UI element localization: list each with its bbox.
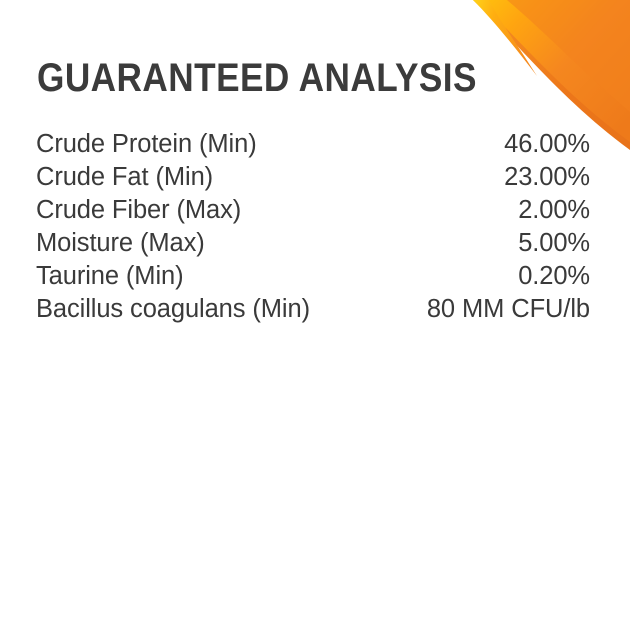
table-row: Bacillus coagulans (Min) 80 MM CFU/lb bbox=[36, 293, 590, 326]
nutrient-value: 80 MM CFU/lb bbox=[427, 293, 590, 326]
table-row: Crude Fat (Min) 23.00% bbox=[36, 161, 590, 194]
guaranteed-analysis-panel: GUARANTEED ANALYSIS Crude Protein (Min) … bbox=[0, 0, 630, 630]
table-row: Moisture (Max) 5.00% bbox=[36, 227, 590, 260]
guaranteed-analysis-table: Crude Protein (Min) 46.00% Crude Fat (Mi… bbox=[36, 128, 590, 326]
nutrient-label: Crude Fiber (Max) bbox=[36, 194, 241, 227]
nutrient-label: Taurine (Min) bbox=[36, 260, 184, 293]
table-row: Taurine (Min) 0.20% bbox=[36, 260, 590, 293]
table-row: Crude Fiber (Max) 2.00% bbox=[36, 194, 590, 227]
table-row: Crude Protein (Min) 46.00% bbox=[36, 128, 590, 161]
nutrient-label: Moisture (Max) bbox=[36, 227, 205, 260]
nutrient-label: Bacillus coagulans (Min) bbox=[36, 293, 310, 326]
nutrient-value: 46.00% bbox=[504, 128, 590, 161]
nutrient-label: Crude Fat (Min) bbox=[36, 161, 213, 194]
nutrient-value: 0.20% bbox=[518, 260, 590, 293]
nutrient-value: 23.00% bbox=[504, 161, 590, 194]
nutrient-label: Crude Protein (Min) bbox=[36, 128, 257, 161]
nutrient-value: 5.00% bbox=[518, 227, 590, 260]
nutrient-value: 2.00% bbox=[518, 194, 590, 227]
page-title: GUARANTEED ANALYSIS bbox=[37, 56, 477, 100]
